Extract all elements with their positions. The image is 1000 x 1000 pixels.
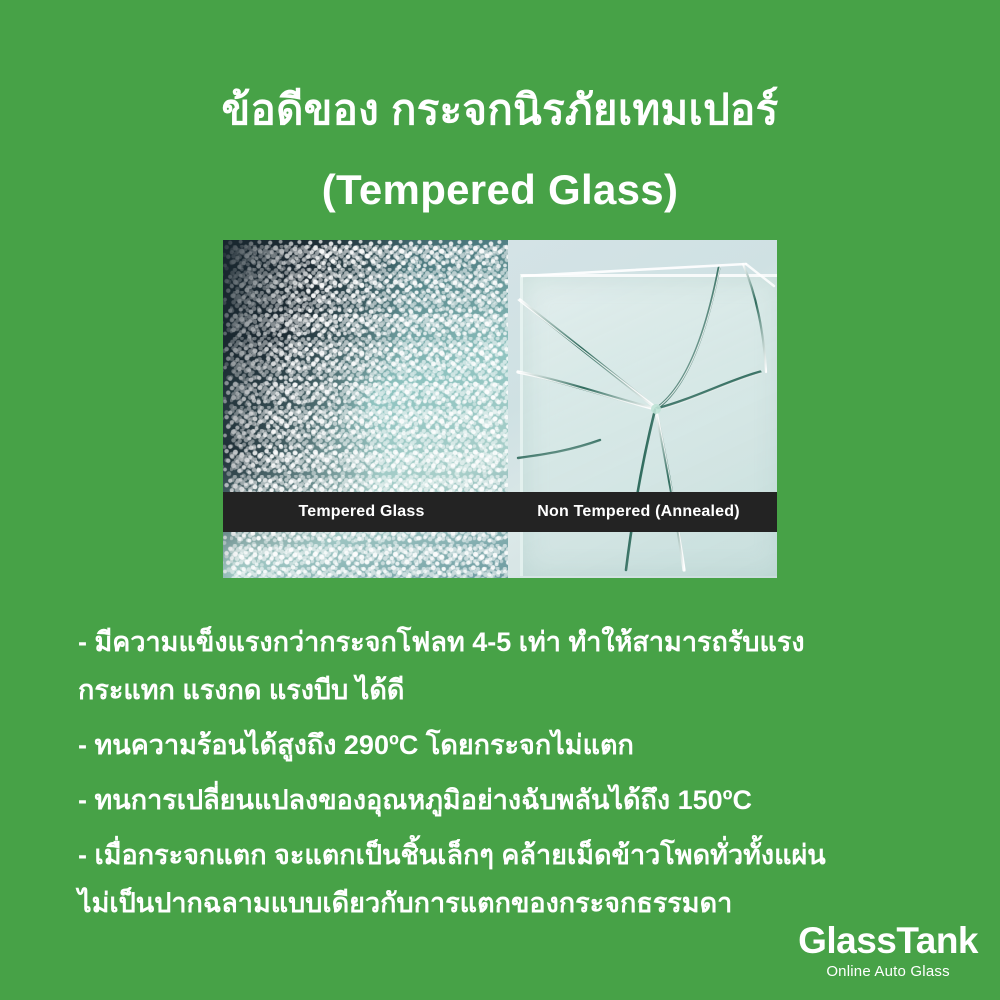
page-title-line-2: (Tempered Glass) xyxy=(0,150,1000,230)
list-item: - ทนความร้อนได้สูงถึง 290ºC โดยกระจกไม่แ… xyxy=(78,721,958,769)
page-title-line-1: ข้อดีของ กระจกนิรภัยเทมเปอร์ xyxy=(0,70,1000,150)
caption-tempered: Tempered Glass xyxy=(223,503,500,521)
brand-logo: GlassTank Online Auto Glass xyxy=(798,921,978,983)
brand-tagline: Online Auto Glass xyxy=(798,961,978,983)
list-item: - มีความแข็งแรงกว่ากระจกโฟลท 4-5 เท่า ทำ… xyxy=(78,618,958,714)
poster-canvas: ข้อดีของ กระจกนิรภัยเทมเปอร์ (Tempered G… xyxy=(0,0,1000,1000)
benefits-list: - มีความแข็งแรงกว่ากระจกโฟลท 4-5 เท่า ทำ… xyxy=(78,618,958,934)
page-title: ข้อดีของ กระจกนิรภัยเทมเปอร์ (Tempered G… xyxy=(0,70,1000,230)
photo-caption-bar: Tempered Glass Non Tempered (Annealed) xyxy=(223,492,777,532)
list-item: - ทนการเปลี่ยนแปลงของอุณหภูมิอย่างฉับพลั… xyxy=(78,776,958,824)
caption-annealed: Non Tempered (Annealed) xyxy=(500,503,777,521)
brand-name: GlassTank xyxy=(798,921,978,961)
comparison-photo: Tempered Glass Non Tempered (Annealed) xyxy=(223,240,777,578)
list-item: - เมื่อกระจกแตก จะแตกเป็นชิ้นเล็กๆ คล้าย… xyxy=(78,831,958,927)
